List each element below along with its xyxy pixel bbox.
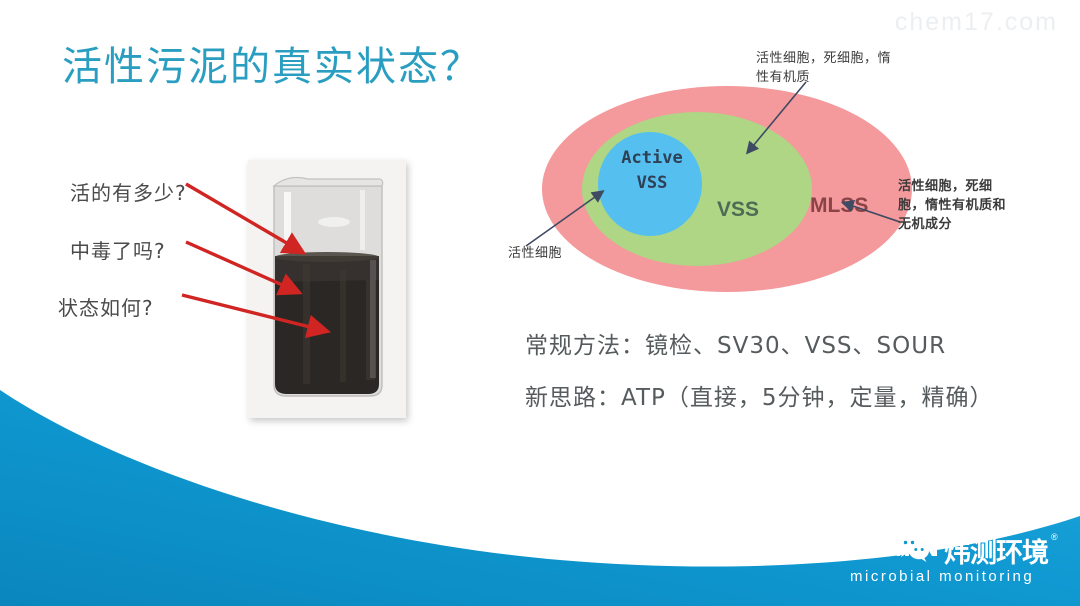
venn-annotation-top: 活性细胞，死细胞，惰性有机质 xyxy=(756,50,901,88)
sludge-beaker-photo xyxy=(248,160,406,418)
question-item-1: 中毒了吗? xyxy=(70,235,166,264)
statement-line-0: 常规方法：镜检、SV30、VSS、SOUR xyxy=(525,326,946,360)
question-item-0: 活的有多少? xyxy=(70,177,187,206)
page-title: 活性污泥的真实状态？ xyxy=(62,34,482,92)
venn-label-vss: VSS xyxy=(717,198,759,222)
wechat-icon xyxy=(896,533,930,563)
logo-chinese-name: 炜测环境 xyxy=(944,531,1048,570)
logo-tagline: microbial monitoring xyxy=(850,568,1034,585)
venn-annotation-left: 活性细胞 xyxy=(508,245,618,264)
question-item-2: 状态如何? xyxy=(58,292,154,321)
slide-canvas: chem17.com 活性污泥的真实状态？ 活的有多少? 中毒了吗? 状态如何? xyxy=(0,0,1080,606)
statement-line-1: 新思路：ATP（直接，5分钟，定量，精确） xyxy=(525,378,994,412)
venn-annotation-right: 活性细胞，死细胞，惰性有机质和无机成分 xyxy=(898,178,1008,235)
venn-label-mlss: MLSS xyxy=(810,194,868,218)
logo-registered-mark: ® xyxy=(1051,532,1058,542)
venn-label-active-vss: Active VSS xyxy=(604,146,700,195)
brand-logo: LUMIN 炜测环境 ® microbial monitoring xyxy=(848,530,1060,592)
watermark: chem17.com xyxy=(895,8,1058,37)
